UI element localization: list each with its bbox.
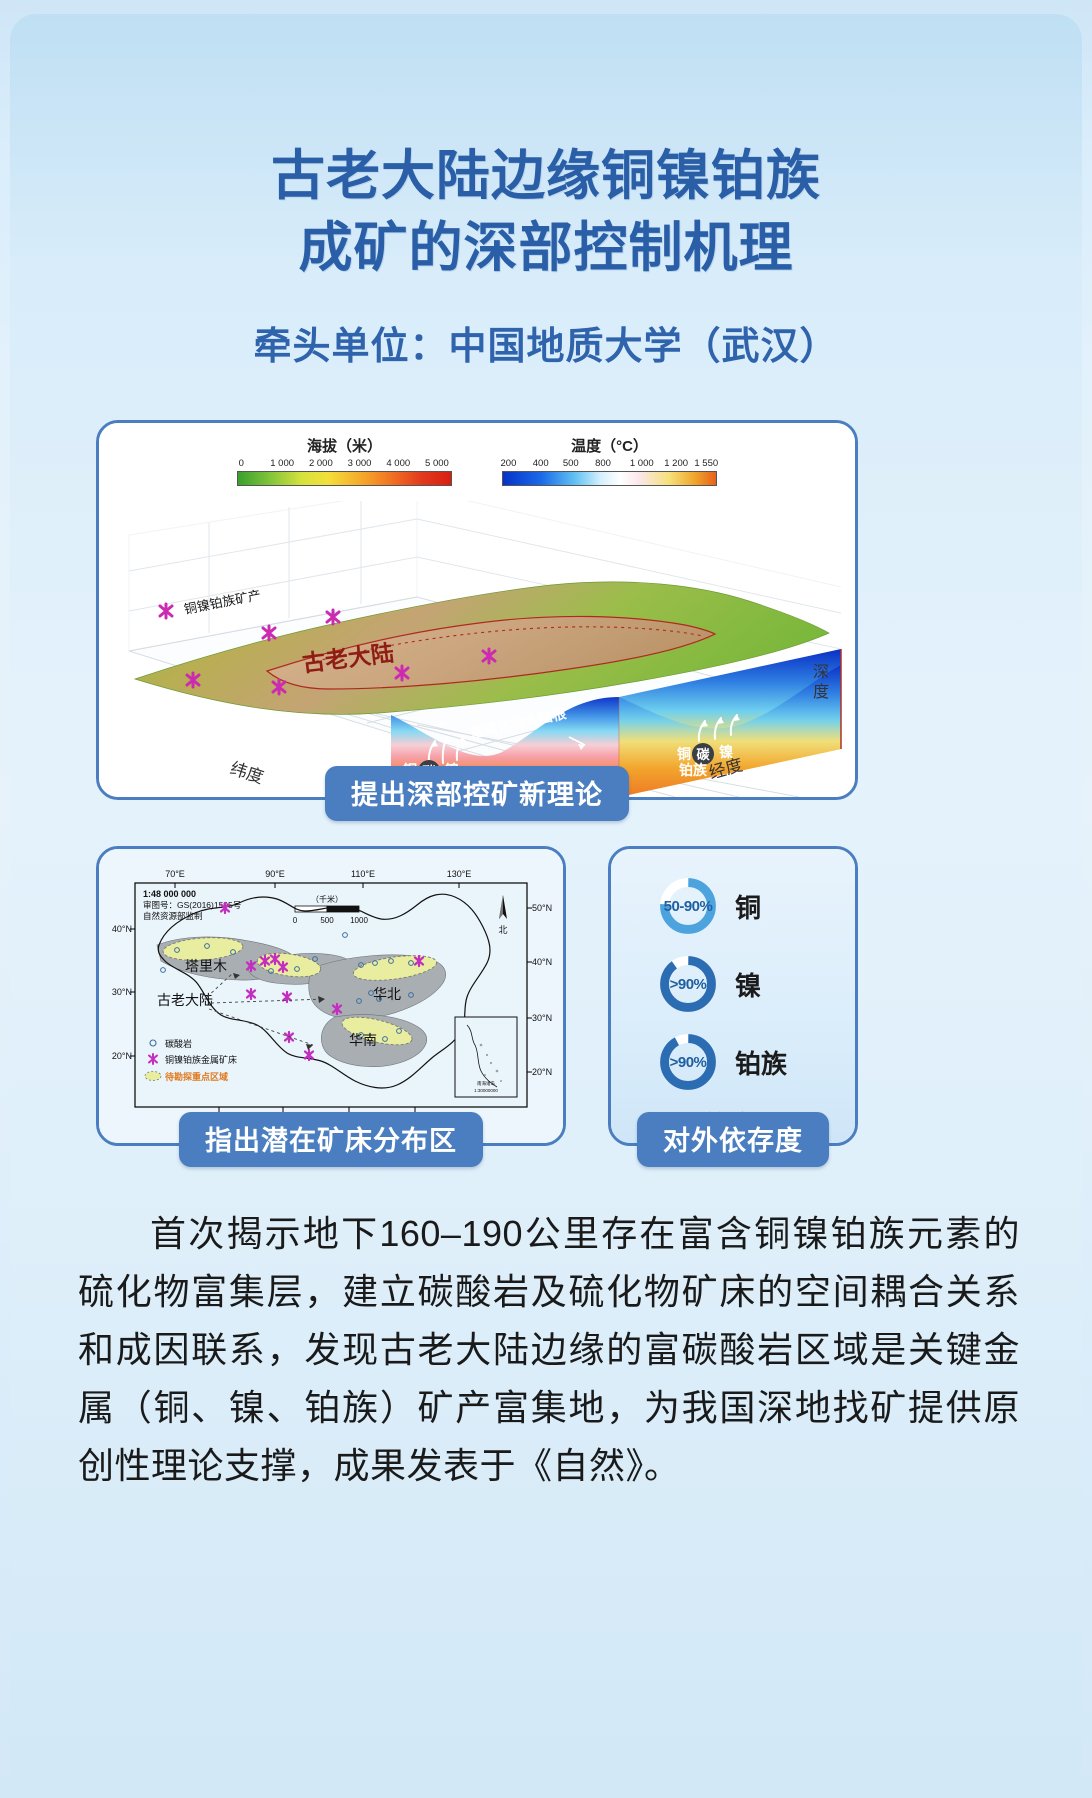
temp-tick-1: 400 xyxy=(533,458,549,469)
map-lon-tick-top-3: 130°E xyxy=(447,869,472,879)
donut-pge: >90% xyxy=(657,1031,719,1093)
donut-nickel-label: 镍 xyxy=(735,966,809,1003)
element-cu-right: 铜 xyxy=(677,746,691,762)
deep-control-theory-card: 海拔（米） 0 1 000 2 000 3 000 4 000 5 000 温度… xyxy=(96,420,858,800)
donut-nickel-value: >90% xyxy=(657,953,719,1015)
map-inset: 南海诸岛 1:30000000 xyxy=(455,1017,517,1097)
donut-copper: 50-90% xyxy=(657,875,719,937)
map-craton-label: 古老大陆 xyxy=(157,992,213,1008)
elevation-legend-ticks: 0 1 000 2 000 3 000 4 000 5 000 xyxy=(237,458,452,471)
map-lon-tick-top-1: 90°E xyxy=(265,869,285,879)
axis-label-depth-2: 度 xyxy=(813,683,829,701)
page-title: 古老大陆边缘铜镍铂族 成矿的深部控制机理 xyxy=(0,140,1092,284)
axis-label-latitude: 纬度 xyxy=(228,759,266,788)
donut-row-pge: >90% 铂族 xyxy=(611,1023,855,1101)
axis-label-depth-1: 深 xyxy=(813,663,829,681)
map-lat-tick-left-1: 30°N xyxy=(112,987,132,997)
map-scalebar-tick-1: 500 xyxy=(320,916,334,925)
import-dependency-card: 50-90% 铜 >90% 镍 xyxy=(608,846,858,1146)
donut-copper-value: 50-90% xyxy=(657,875,719,937)
elevation-legend-title: 海拔（米） xyxy=(237,435,452,456)
donut-row-copper: 50-90% 铜 xyxy=(611,867,855,945)
temp-tick-5: 1 200 xyxy=(664,458,688,469)
elev-tick-2: 2 000 xyxy=(309,458,333,469)
temp-tick-0: 200 xyxy=(501,458,517,469)
elev-tick-4: 4 000 xyxy=(386,458,410,469)
map-region-label-tarim: 塔里木 xyxy=(185,958,227,974)
map-lon-tick-top-2: 110°E xyxy=(351,869,375,879)
china-map: 70°E 90°E 110°E 130°E 90°E 100°E 110°E 1… xyxy=(99,849,563,1143)
donut-copper-label: 铜 xyxy=(735,888,809,925)
temperature-colorbar xyxy=(502,471,717,486)
donut-pge-label: 铂族 xyxy=(735,1044,809,1081)
donut-nickel: >90% xyxy=(657,953,719,1015)
elev-tick-1: 1 000 xyxy=(270,458,294,469)
map-lat-tick-left-2: 20°N xyxy=(112,1051,132,1061)
element-pge-right: 铂族 xyxy=(679,762,708,778)
colorbar-legends: 海拔（米） 0 1 000 2 000 3 000 4 000 5 000 温度… xyxy=(99,435,855,486)
ore-legend-text: 铜镍铂族矿产 xyxy=(183,587,262,617)
map-lon-tick-top-0: 70°E xyxy=(165,869,185,879)
temperature-legend: 温度（°C） 200 400 500 800 1 000 1 200 1 550 xyxy=(502,435,717,486)
map-lat-tick-right-2: 30°N xyxy=(532,1013,552,1023)
legend-deposit-label: 铜镍铂族金属矿床 xyxy=(165,1054,237,1065)
element-c-right: 碳 xyxy=(696,747,710,762)
3d-block-diagram: 铜镍铂族矿产 古老大陆 富硫化物大陆根 xyxy=(99,501,855,797)
temperature-legend-ticks: 200 400 500 800 1 000 1 200 1 550 xyxy=(502,458,717,471)
donuts-banner: 对外依存度 xyxy=(637,1112,829,1167)
temp-tick-2: 500 xyxy=(563,458,579,469)
elev-tick-3: 3 000 xyxy=(348,458,372,469)
elev-tick-5: 5 000 xyxy=(425,458,449,469)
map-scalebar-tick-0: 0 xyxy=(293,916,298,925)
map-lat-tick-right-3: 20°N xyxy=(532,1067,552,1077)
map-region-label-south-china: 华南 xyxy=(349,1032,377,1048)
legend-target-icon xyxy=(145,1072,161,1081)
map-lat-tick-left-0: 40°N xyxy=(112,924,132,934)
compass-label: 北 xyxy=(498,925,507,935)
elevation-legend: 海拔（米） 0 1 000 2 000 3 000 4 000 5 000 xyxy=(237,435,452,486)
diagram-banner: 提出深部控矿新理论 xyxy=(325,766,629,821)
map-inset-title: 南海诸岛 xyxy=(477,1080,495,1087)
map-lat-tick-right-1: 40°N xyxy=(532,957,552,967)
lead-organization-subtitle: 牵头单位：中国地质大学（武汉） xyxy=(0,315,1092,370)
elevation-colorbar xyxy=(237,471,452,486)
title-line-2: 成矿的深部控制机理 xyxy=(0,212,1092,284)
poster: 古老大陆边缘铜镍铂族 成矿的深部控制机理 牵头单位：中国地质大学（武汉） 海拔（… xyxy=(0,0,1092,1798)
potential-deposit-map-card: 70°E 90°E 110°E 130°E 90°E 100°E 110°E 1… xyxy=(96,846,566,1146)
legend-target-label: 待勘探重点区域 xyxy=(165,1071,228,1082)
dependency-donuts: 50-90% 铜 >90% 镍 xyxy=(611,867,855,1143)
elev-tick-0: 0 xyxy=(239,458,244,469)
legend-carbonatite-label: 碳酸岩 xyxy=(165,1038,192,1049)
map-scalebar-unit: （千米） xyxy=(311,894,343,904)
map-authority-text: 自然资源部监制 xyxy=(143,911,203,921)
map-banner: 指出潜在矿床分布区 xyxy=(179,1112,483,1167)
body-paragraph: 首次揭示地下160–190公里存在富含铜镍铂族元素的硫化物富集层，建立碳酸岩及硫… xyxy=(78,1205,1020,1495)
map-region-label-north-china: 华北 xyxy=(373,986,401,1002)
title-line-1: 古老大陆边缘铜镍铂族 xyxy=(271,146,821,206)
map-inset-scale: 1:30000000 xyxy=(474,1088,498,1093)
temp-tick-4: 1 000 xyxy=(630,458,654,469)
donut-row-nickel: >90% 镍 xyxy=(611,945,855,1023)
map-scalebar-tick-2: 1000 xyxy=(350,916,368,925)
temp-tick-3: 800 xyxy=(595,458,611,469)
temp-tick-6: 1 550 xyxy=(694,458,718,469)
map-scale-text: 1:48 000 000 xyxy=(143,889,196,899)
map-lat-tick-right-0: 50°N xyxy=(532,903,552,913)
donut-pge-value: >90% xyxy=(657,1031,719,1093)
temperature-legend-title: 温度（°C） xyxy=(502,435,717,456)
